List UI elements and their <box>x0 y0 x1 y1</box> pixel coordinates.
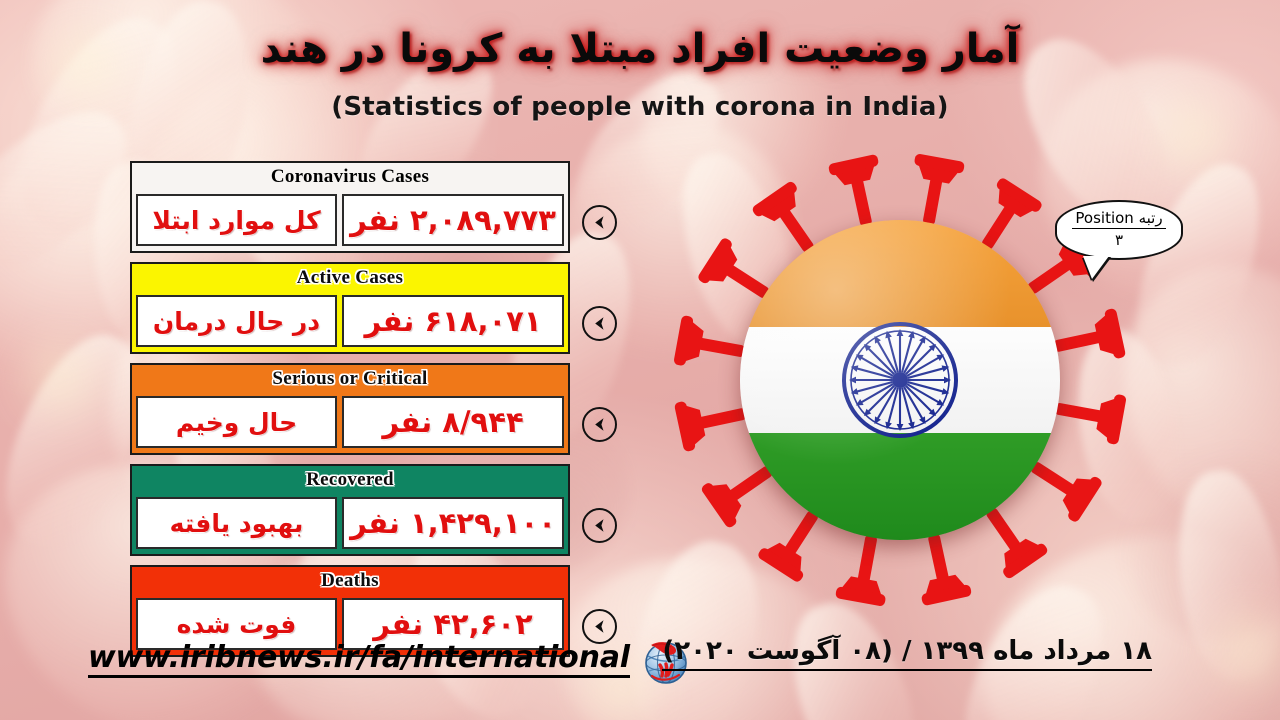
chevron-left-icon[interactable] <box>582 508 617 543</box>
virus-spike <box>1051 384 1127 445</box>
stat-label-persian: کل موارد ابتلا <box>136 194 337 246</box>
virus-spike <box>904 153 965 229</box>
stat-card-header-serious-or-critical: Serious or Critical <box>132 365 568 392</box>
stat-card[interactable]: Recovered۱,۴۲۹,۱۰۰ نفربهبود یافته <box>130 464 570 556</box>
virus-spike <box>673 315 749 376</box>
stat-card[interactable]: Active Cases۶۱۸,۰۷۱ نفردر حال درمان <box>130 262 570 354</box>
footer-website[interactable]: www.iribnews.ir/fa/international <box>88 632 694 688</box>
flag-band-green <box>740 433 1060 540</box>
infographic-canvas: آمار وضعیت افراد مبتلا به کرونا در هند (… <box>0 0 1280 720</box>
stat-card[interactable]: Serious or Critical۸/۹۴۴ نفرحال وخیم <box>130 363 570 455</box>
stat-value: ۸/۹۴۴ نفر <box>342 396 564 448</box>
stat-card-header-recovered: Recovered <box>132 466 568 493</box>
stat-label-persian: در حال درمان <box>136 295 337 347</box>
background-highlight <box>0 330 120 430</box>
rank-callout-label: رتبه Position <box>1072 209 1165 229</box>
stat-value: ۱,۴۲۹,۱۰۰ نفر <box>342 497 564 549</box>
chevron-left-icon[interactable] <box>582 205 617 240</box>
stat-card-row: ۸/۹۴۴ نفرحال وخیم <box>132 392 568 453</box>
chevron-left-icon[interactable] <box>582 407 617 442</box>
statistics-card-list: Coronavirus Cases۲,۰۸۹,۷۷۳ نفرکل موارد ا… <box>130 161 570 666</box>
stat-card-header-deaths: Deaths <box>132 567 568 594</box>
virus-spike <box>909 529 972 606</box>
website-url-text[interactable]: www.iribnews.ir/fa/international <box>88 642 630 677</box>
callout-tail <box>1083 256 1109 279</box>
page-subtitle-english: (Statistics of people with corona in Ind… <box>0 92 1280 122</box>
rank-callout-value: ۳ <box>1065 231 1173 249</box>
stat-card-body: Recovered۱,۴۲۹,۱۰۰ نفربهبود یافته <box>130 464 570 556</box>
stat-card[interactable]: Coronavirus Cases۲,۰۸۹,۷۷۳ نفرکل موارد ا… <box>130 161 570 253</box>
virus-spike <box>835 531 896 607</box>
stat-card-body: Coronavirus Cases۲,۰۸۹,۷۷۳ نفرکل موارد ا… <box>130 161 570 253</box>
stat-card-row: ۱,۴۲۹,۱۰۰ نفربهبود یافته <box>132 493 568 554</box>
stat-card-row: ۶۱۸,۰۷۱ نفردر حال درمان <box>132 291 568 352</box>
stat-label-persian: حال وخیم <box>136 396 337 448</box>
rank-callout: رتبه Position ۳ <box>1055 200 1183 260</box>
stat-value: ۶۱۸,۰۷۱ نفر <box>342 295 564 347</box>
page-title-persian: آمار وضعیت افراد مبتلا به کرونا در هند <box>0 26 1280 72</box>
flag-band-saffron <box>740 220 1060 327</box>
stat-value: ۲,۰۸۹,۷۷۳ نفر <box>342 194 564 246</box>
stat-card-row: ۲,۰۸۹,۷۷۳ نفرکل موارد ابتلا <box>132 190 568 251</box>
stat-card-body: Serious or Critical۸/۹۴۴ نفرحال وخیم <box>130 363 570 455</box>
india-flag-disc <box>740 220 1060 540</box>
ashoka-chakra-icon <box>841 321 959 439</box>
stat-card-header-coronavirus-cases: Coronavirus Cases <box>132 163 568 190</box>
publication-date: ۱۸ مرداد ماه ۱۳۹۹ / (۰۸ آگوست ۲۰۲۰) <box>662 636 1152 671</box>
stat-card-header-active-cases: Active Cases <box>132 264 568 291</box>
stat-label-persian: بهبود یافته <box>136 497 337 549</box>
virus-spike <box>1049 308 1126 371</box>
chevron-left-icon[interactable] <box>582 306 617 341</box>
stat-card-body: Active Cases۶۱۸,۰۷۱ نفردر حال درمان <box>130 262 570 354</box>
rank-callout-bubble: رتبه Position ۳ <box>1055 200 1183 260</box>
